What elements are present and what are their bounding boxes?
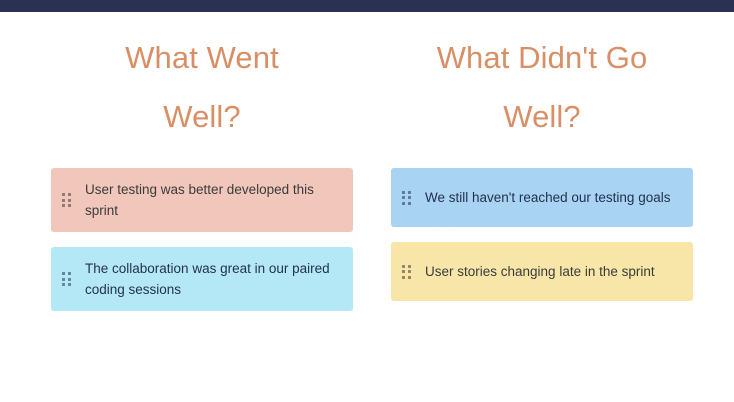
retro-card[interactable]: The collaboration was great in our paire… xyxy=(51,247,353,311)
column-title-what-went-well: What Went Well? xyxy=(51,28,353,146)
card-list-what-went-well: User testing was better developed this s… xyxy=(51,168,353,311)
app-top-bar xyxy=(0,0,734,12)
card-list-what-didnt-go-well: We still haven't reached our testing goa… xyxy=(391,168,693,301)
retro-card[interactable]: User testing was better developed this s… xyxy=(51,168,353,232)
drag-handle-icon[interactable] xyxy=(402,191,410,205)
column-title-what-didnt-go-well: What Didn't Go Well? xyxy=(391,28,693,146)
drag-handle-icon[interactable] xyxy=(402,265,410,279)
column-what-didnt-go-well: What Didn't Go Well? We still haven't re… xyxy=(391,28,693,316)
retro-card-text: User testing was better developed this s… xyxy=(85,179,339,221)
retrospective-board: What Went Well? User testing was better … xyxy=(0,12,734,402)
retro-card-text: We still haven't reached our testing goa… xyxy=(425,187,670,208)
column-what-went-well: What Went Well? User testing was better … xyxy=(51,28,353,326)
drag-handle-icon[interactable] xyxy=(62,272,70,286)
retro-card[interactable]: User stories changing late in the sprint xyxy=(391,242,693,301)
drag-handle-icon[interactable] xyxy=(62,193,70,207)
retro-card[interactable]: We still haven't reached our testing goa… xyxy=(391,168,693,227)
retro-card-text: User stories changing late in the sprint xyxy=(425,261,655,282)
retro-card-text: The collaboration was great in our paire… xyxy=(85,258,339,300)
